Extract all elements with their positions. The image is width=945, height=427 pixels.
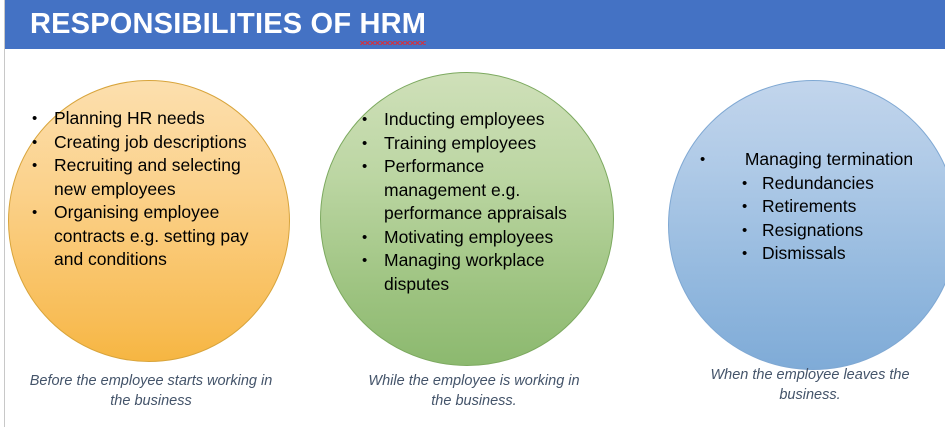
list-item-label: Redundancies <box>762 172 936 196</box>
list-item-label: Resignations <box>762 219 936 243</box>
bullet-point-icon: • <box>742 219 762 243</box>
list-item-label: Organising employee contracts e.g. setti… <box>54 201 264 272</box>
bullet-point-icon: • <box>742 242 762 266</box>
list-item: • Motivating employees <box>362 226 584 250</box>
spellcheck-squiggle-underline <box>360 41 427 45</box>
title-misspelled-word: HRM <box>360 5 427 43</box>
caption-during-employment: While the employee is working in the bus… <box>358 371 590 411</box>
bullet-list-before-employment: • Planning HR needs • Creating job descr… <box>32 107 264 272</box>
bullet-point-icon: • <box>742 172 762 196</box>
list-item-label: Managing termination <box>722 148 936 172</box>
bullet-list-during-employment: • Inducting employees • Training employe… <box>362 108 584 296</box>
list-item-label: Recruiting and selecting new employees <box>54 154 264 201</box>
list-item: • Resignations <box>742 219 936 243</box>
list-item-label: Performance management e.g. performance … <box>384 155 584 226</box>
list-item: • Retirements <box>742 195 936 219</box>
list-item-label: Inducting employees <box>384 108 584 132</box>
list-item-label: Creating job descriptions <box>54 131 264 155</box>
slide-left-border <box>4 0 5 427</box>
list-item-label: Retirements <box>762 195 936 219</box>
bullet-point-icon: • <box>362 155 384 179</box>
list-item: • Organising employee contracts e.g. set… <box>32 201 264 272</box>
list-item: • Managing termination <box>700 148 936 172</box>
list-item: • Performance management e.g. performanc… <box>362 155 584 226</box>
bullet-point-icon: • <box>742 195 762 219</box>
list-item: • Planning HR needs <box>32 107 264 131</box>
list-item-label: Planning HR needs <box>54 107 264 131</box>
title-banner: RESPONSIBILITIES OF HRM <box>5 0 945 49</box>
list-item-label: Training employees <box>384 132 584 156</box>
title-plain-text: RESPONSIBILITIES OF <box>30 8 360 40</box>
list-item-label: Dismissals <box>762 242 936 266</box>
bullet-point-icon: • <box>32 107 54 131</box>
bullet-point-icon: • <box>362 132 384 156</box>
caption-before-employment: Before the employee starts working in th… <box>20 371 282 411</box>
bullet-point-icon: • <box>362 249 384 273</box>
slide-canvas: RESPONSIBILITIES OF HRM • Planning HR ne… <box>0 0 945 427</box>
bullet-point-icon: • <box>362 108 384 132</box>
caption-end-of-employment: When the employee leaves the business. <box>700 365 920 405</box>
list-item: • Inducting employees <box>362 108 584 132</box>
bullet-point-icon: • <box>362 226 384 250</box>
list-item: • Dismissals <box>742 242 936 266</box>
list-item: • Redundancies <box>742 172 936 196</box>
list-item: • Recruiting and selecting new employees <box>32 154 264 201</box>
list-item-label: Managing workplace disputes <box>384 249 584 296</box>
list-item: • Managing workplace disputes <box>362 249 584 296</box>
bullet-point-icon: • <box>32 154 54 178</box>
list-item: • Creating job descriptions <box>32 131 264 155</box>
bullet-point-icon: • <box>32 201 54 225</box>
sub-bullet-list: • Redundancies • Retirements • Resignati… <box>700 172 936 266</box>
title-misspelled-text: HRM <box>360 8 427 40</box>
bullet-point-icon: • <box>32 131 54 155</box>
list-item-label: Motivating employees <box>384 226 584 250</box>
list-item: • Training employees <box>362 132 584 156</box>
page-title: RESPONSIBILITIES OF HRM <box>30 5 426 43</box>
bullet-list-end-of-employment: • Managing termination • Redundancies • … <box>700 148 936 266</box>
bullet-point-icon: • <box>700 148 722 172</box>
